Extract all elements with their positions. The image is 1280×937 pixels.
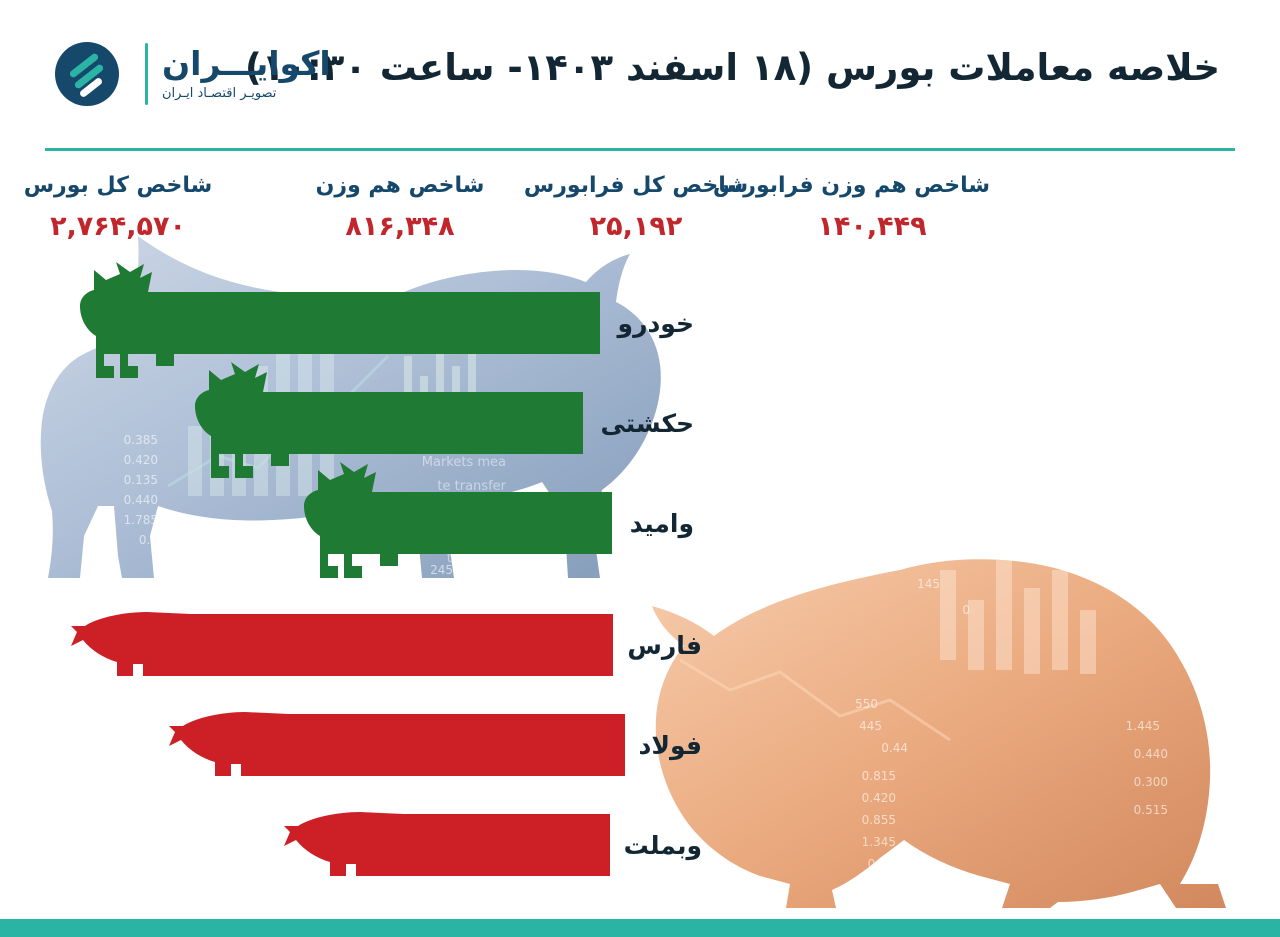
bar-row: فارس	[143, 608, 702, 682]
bear-icon	[71, 606, 191, 684]
bar-label: وبملت	[624, 831, 702, 860]
bar-label: فولاد	[639, 731, 703, 760]
index-label: شاخص هم وزن فرابورس	[754, 172, 990, 201]
bear-icon	[169, 706, 289, 784]
eco-iran-logo-icon	[55, 42, 119, 106]
footer-accent-bar	[0, 919, 1280, 937]
bull-icon	[179, 362, 299, 484]
bar-shape-bull	[215, 392, 583, 454]
bar-row: وبملت	[356, 808, 702, 882]
header: خلاصه معاملات بورس (۱۸ اسفند ۱۴۰۳- ساعت …	[0, 0, 1280, 150]
bar-row: خودرو	[100, 286, 694, 360]
index-cell-equal-weight-farabourse: شاخص هم وزن فرابورس ۱۴۰,۴۴۹	[754, 172, 990, 264]
logo-subtitle: تصویـر اقتصـاد ایـران	[162, 86, 276, 101]
bar-shape-bull	[324, 492, 612, 554]
brand-logo: اکوایـــران تصویـر اقتصـاد ایـران	[55, 42, 331, 106]
bar-chart: خودرو حکشتی وامید	[0, 270, 1280, 910]
bar-label: وامید	[630, 509, 694, 538]
bar-row: حکشتی	[215, 386, 695, 460]
bar-label: خودرو	[618, 309, 694, 338]
bull-icon	[288, 462, 408, 584]
header-divider	[45, 148, 1235, 151]
bull-icon	[64, 262, 184, 384]
bar-shape-bear	[356, 814, 610, 876]
index-label: شاخص کل بورس	[0, 172, 236, 201]
bar-shape-bear	[143, 614, 613, 676]
logo-text: اکوایـــران تصویـر اقتصـاد ایـران	[162, 47, 331, 101]
index-label: شاخص هم وزن	[282, 172, 518, 201]
bear-icon	[284, 806, 404, 884]
logo-divider	[145, 43, 148, 105]
bar-label: فارس	[627, 631, 702, 660]
bar-shape-bear	[241, 714, 625, 776]
bar-row: وامید	[324, 486, 694, 560]
index-value: ۱۴۰,۴۴۹	[754, 211, 990, 242]
logo-title: اکوایـــران	[162, 47, 331, 80]
bar-shape-bull	[100, 292, 600, 354]
index-label: شاخص کل فرابورس	[518, 172, 754, 201]
infographic-page: خلاصه معاملات بورس (۱۸ اسفند ۱۴۰۳- ساعت …	[0, 0, 1280, 937]
page-title: خلاصه معاملات بورس (۱۸ اسفند ۱۴۰۳- ساعت …	[245, 46, 1220, 89]
bar-row: فولاد	[241, 708, 703, 782]
bar-label: حکشتی	[601, 409, 695, 438]
